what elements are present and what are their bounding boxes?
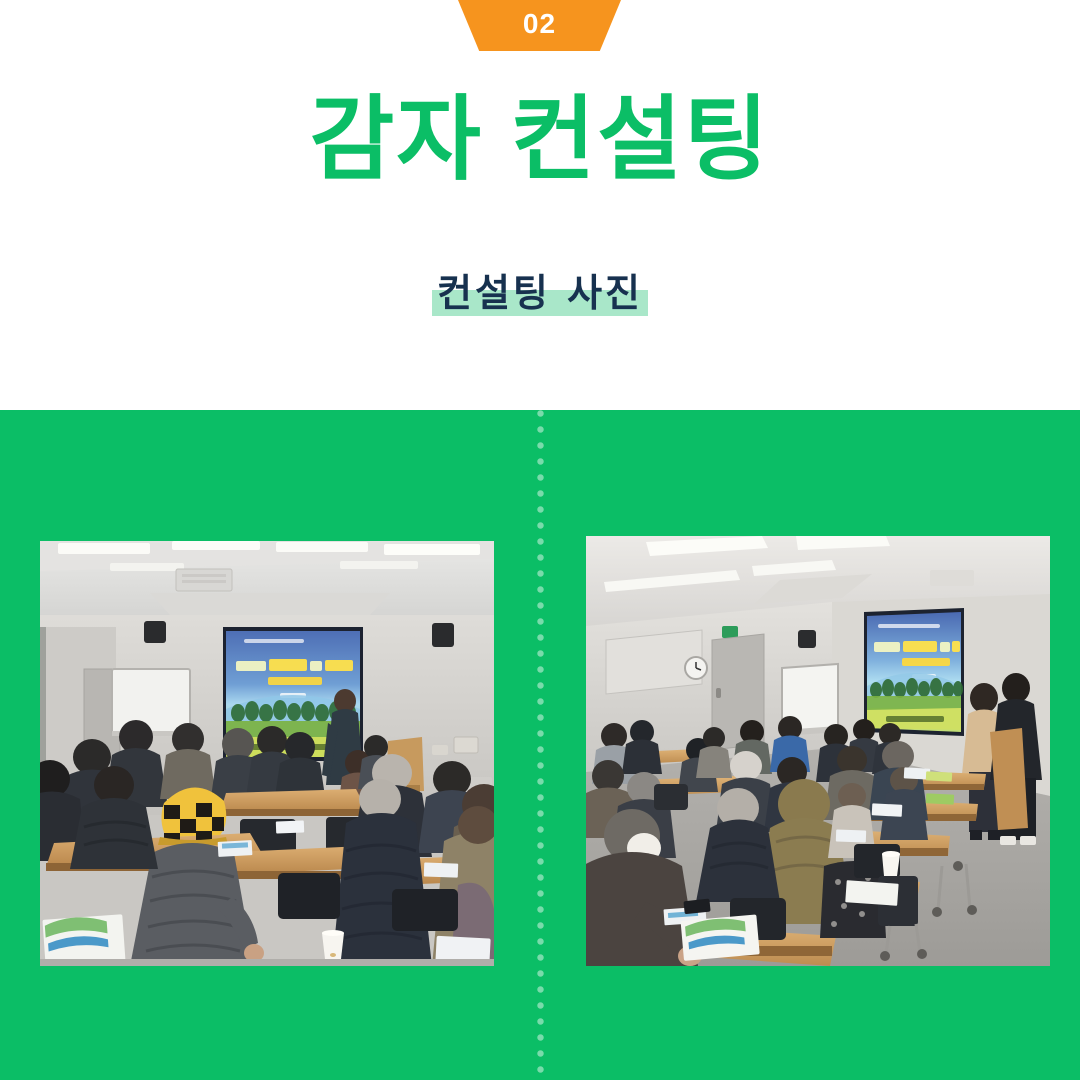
subtitle-highlight-group: 컨설팅 사진 [431, 268, 649, 319]
gallery-photo-right [586, 536, 1050, 966]
seminar-room-audience-illustration [40, 541, 494, 966]
card-header-section: 02 감자 컨설팅 컨설팅 사진 [0, 0, 1080, 410]
section-number-badge: 02 [458, 0, 621, 51]
info-card: 02 감자 컨설팅 컨설팅 사진 [0, 0, 1080, 1080]
seminar-room-side-view-illustration [586, 536, 1050, 966]
page-title: 감자 컨설팅 [0, 92, 1080, 189]
subtitle-container: 컨설팅 사진 [0, 268, 1080, 330]
section-number-label: 02 [523, 10, 556, 42]
subtitle-label: 컨설팅 사진 [431, 271, 649, 315]
gallery-photo-left [40, 541, 494, 966]
vertical-dotted-divider [537, 410, 544, 1080]
